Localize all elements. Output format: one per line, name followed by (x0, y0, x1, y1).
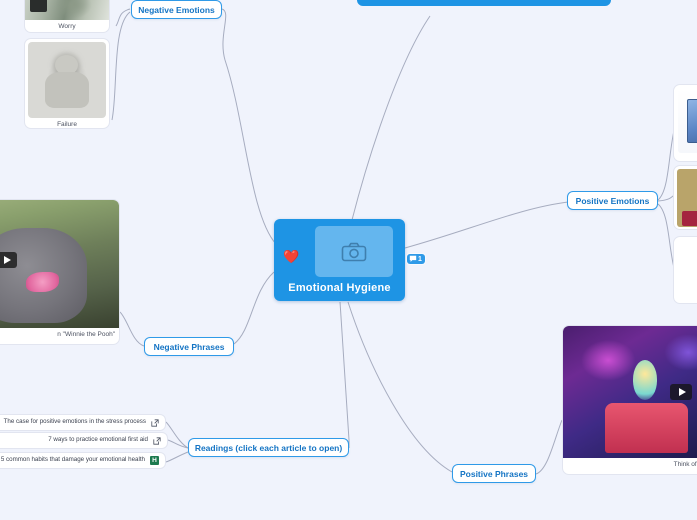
central-node-emotional-hygiene[interactable]: ❤️ Emotional Hygiene (274, 219, 405, 301)
card-positive-emotion-2[interactable] (673, 165, 697, 230)
play-button[interactable] (0, 252, 17, 268)
topic-label: Negative Phrases (154, 342, 225, 352)
external-link-icon[interactable] (151, 419, 159, 427)
harvard-health-icon[interactable]: H (150, 456, 159, 465)
heart-icon: ❤️ (283, 250, 299, 263)
reading-title: The case for positive emotions in the st… (4, 419, 146, 425)
camera-icon (341, 242, 367, 262)
play-icon (679, 388, 686, 396)
topic-readings[interactable]: Readings (click each article to open) (188, 438, 349, 457)
topic-positive-phrases[interactable]: Positive Phrases (452, 464, 536, 483)
comment-count: 1 (418, 256, 422, 263)
topic-negative-emotions[interactable]: Negative Emotions (131, 0, 222, 19)
central-node-thumbnail[interactable] (315, 226, 393, 277)
topic-label: Positive Emotions (576, 196, 650, 206)
illustrated-map-image (677, 169, 697, 227)
reading-title: 5 common habits that damage your emotion… (1, 457, 145, 463)
card-worry[interactable]: Worry (24, 0, 110, 33)
worry-image (25, 0, 109, 20)
comment-badge[interactable]: 1 (407, 254, 425, 264)
card-positive-emotion-3[interactable] (673, 236, 697, 304)
card-caption: Failure (25, 118, 109, 129)
mindmap-canvas[interactable]: ❤️ Emotional Hygiene 1 Negative Emotions… (0, 0, 697, 520)
blue-ui-image (678, 89, 697, 153)
inside-out-joy-image (563, 326, 697, 458)
reading-row-1[interactable]: The case for positive emotions in the st… (0, 414, 166, 431)
card-inside-out-joy-video[interactable]: Think of Joy from "In (562, 325, 697, 475)
reading-row-2[interactable]: 7 ways to practice emotional first aid (0, 432, 168, 449)
top-clipped-node[interactable] (357, 0, 611, 6)
failure-image (28, 42, 106, 118)
external-link-icon[interactable] (153, 437, 161, 445)
central-node-title: Emotional Hygiene (274, 282, 405, 294)
card-caption: Worry (25, 20, 109, 33)
topic-label: Negative Emotions (138, 5, 215, 15)
reading-title: 7 ways to practice emotional first aid (48, 437, 148, 443)
topic-positive-emotions[interactable]: Positive Emotions (567, 191, 658, 210)
play-icon (4, 256, 11, 264)
topic-label: Readings (click each article to open) (195, 443, 342, 453)
card-winnie-the-pooh-video[interactable]: n "Winnie the Pooh" (0, 199, 120, 345)
card-positive-emotion-1[interactable] (673, 84, 697, 162)
card-failure[interactable]: Failure (24, 38, 110, 129)
play-button[interactable] (670, 384, 692, 400)
winnie-the-pooh-image (0, 200, 119, 328)
card-caption: Think of Joy from "In (563, 458, 697, 471)
reading-row-3[interactable]: 5 common habits that damage your emotion… (0, 452, 166, 469)
comment-icon (409, 255, 417, 263)
topic-negative-phrases[interactable]: Negative Phrases (144, 337, 234, 356)
topic-label: Positive Phrases (460, 469, 528, 479)
card-caption: n "Winnie the Pooh" (0, 328, 119, 341)
